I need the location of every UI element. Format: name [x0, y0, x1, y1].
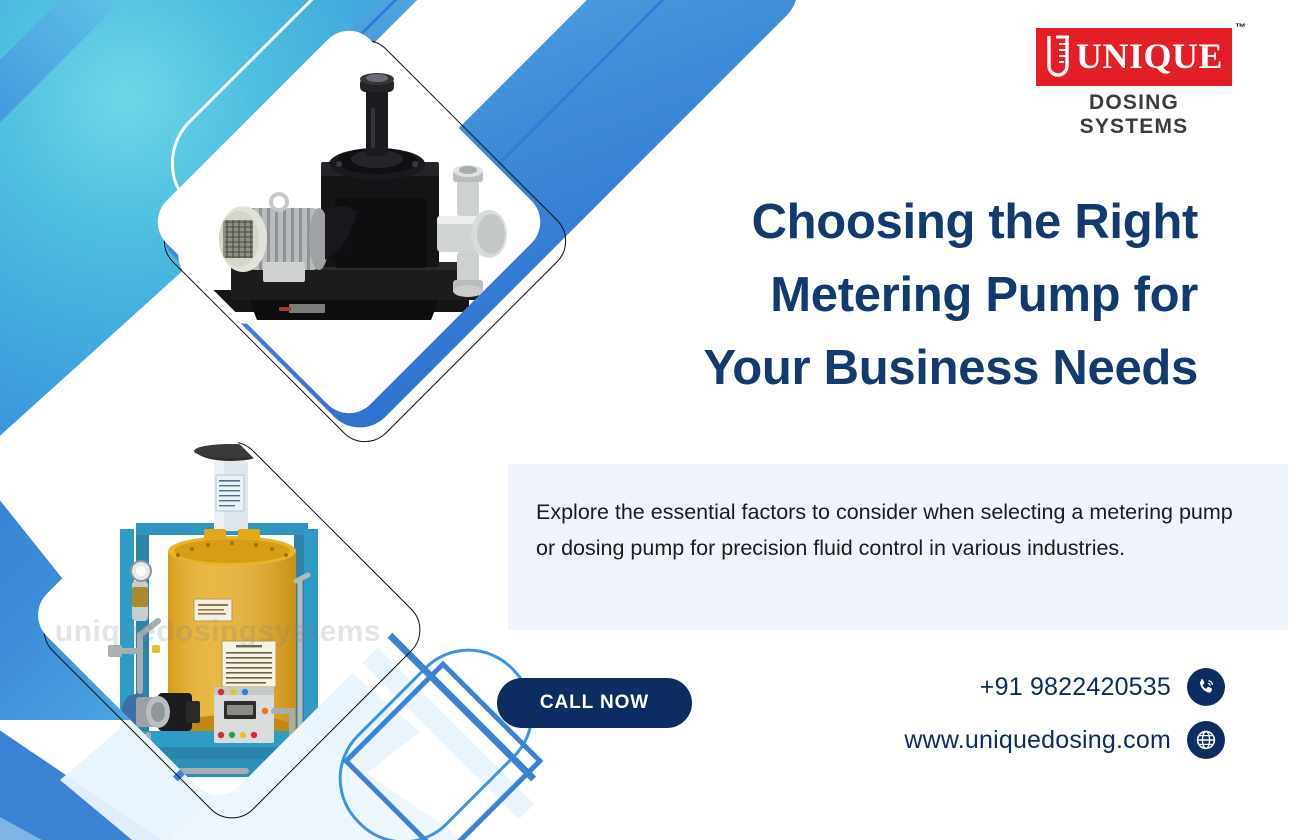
logo-tagline: DOSING SYSTEMS: [1036, 91, 1232, 139]
headline-line-2: Metering Pump for: [558, 259, 1198, 332]
trademark-symbol: ™: [1235, 22, 1246, 34]
globe-icon[interactable]: [1187, 721, 1225, 759]
logo-wordmark: UNIQUE: [1076, 35, 1223, 77]
description-box: Explore the essential factors to conside…: [508, 464, 1288, 630]
marketing-banner: uniquedosingsystems UNIQUE ™ DOSING SYST…: [0, 0, 1290, 840]
description-text: Explore the essential factors to conside…: [536, 494, 1252, 566]
website-url[interactable]: www.uniquedosing.com: [904, 726, 1171, 755]
company-logo: UNIQUE ™ DOSING SYSTEMS: [1036, 28, 1232, 139]
phone-icon[interactable]: [1187, 668, 1225, 706]
headline-line-1: Choosing the Right: [558, 186, 1198, 259]
phone-number[interactable]: +91 9822420535: [980, 673, 1171, 702]
call-now-button[interactable]: CALL NOW: [497, 678, 692, 728]
phone-contact[interactable]: +91 9822420535: [980, 668, 1225, 706]
measuring-beaker-icon: [1045, 33, 1075, 79]
page-title: Choosing the Right Metering Pump for You…: [558, 186, 1198, 405]
headline-line-3: Your Business Needs: [558, 332, 1198, 405]
logo-red-box: UNIQUE ™: [1036, 28, 1232, 86]
website-contact[interactable]: www.uniquedosing.com: [904, 721, 1225, 759]
